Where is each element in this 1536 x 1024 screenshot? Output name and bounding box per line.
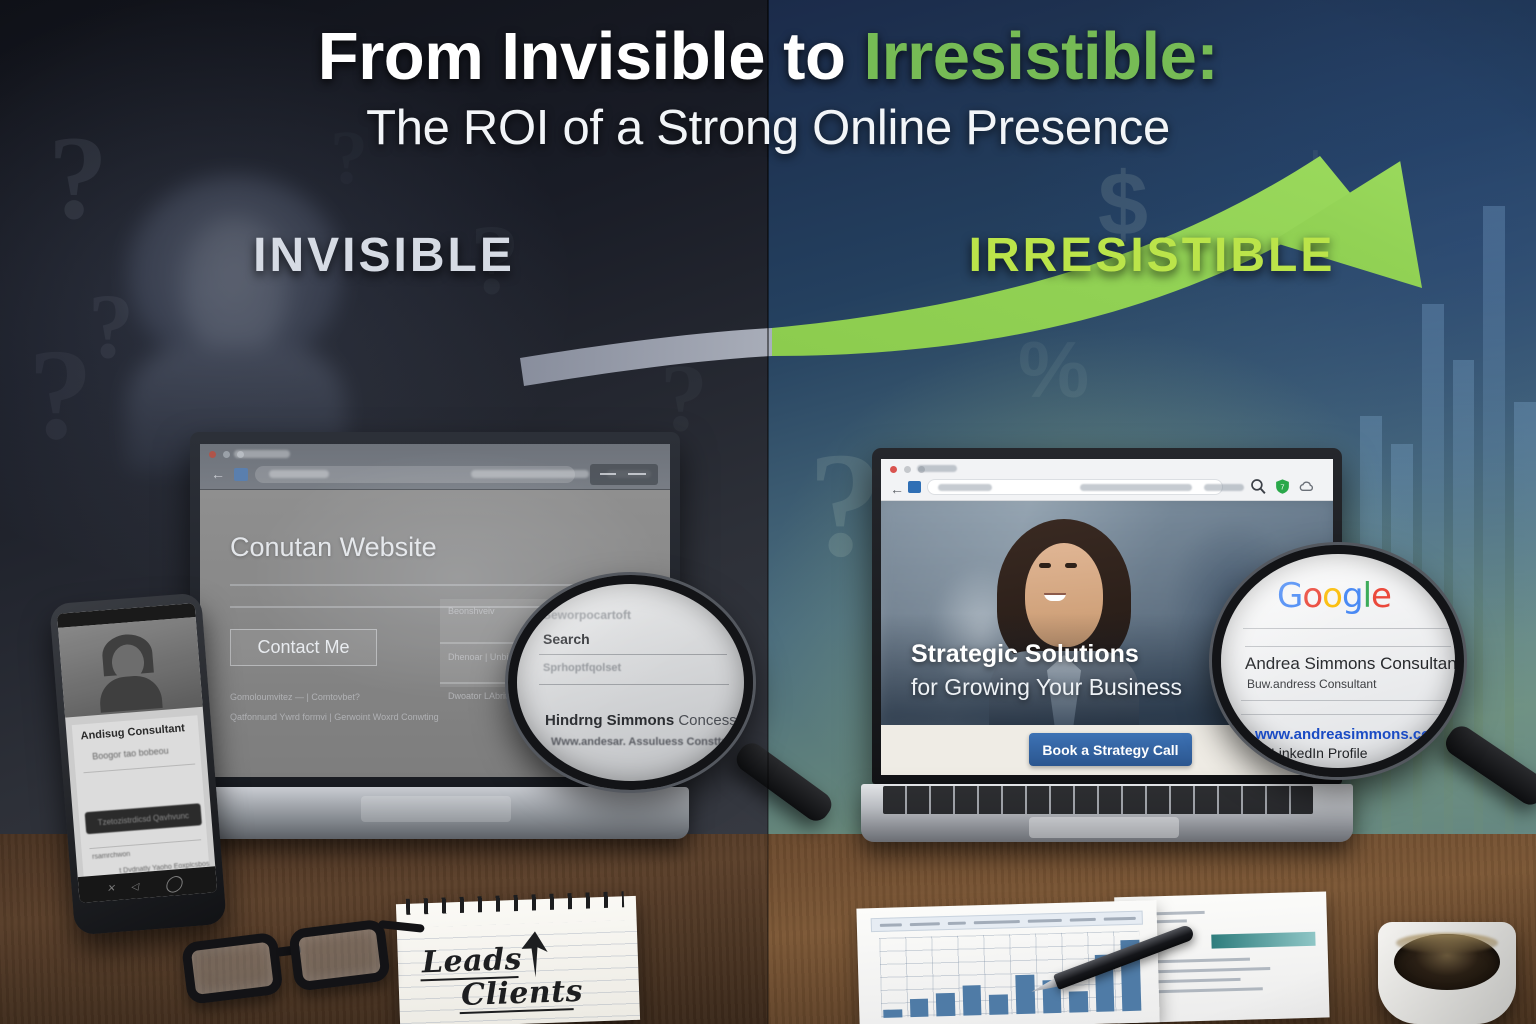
play-triangle-icon: [1255, 750, 1265, 762]
page-title: From Invisible to Irresistible:: [0, 22, 1536, 92]
cloud-icon[interactable]: [1298, 478, 1315, 495]
chart-papers: [856, 895, 1329, 1024]
search-label: Search: [543, 631, 590, 647]
search-result-url[interactable]: www.andreasimmons.com: [1255, 726, 1444, 743]
search-result-title[interactable]: Andrea Simmons Consultant: [1245, 654, 1461, 674]
keyboard-icon: [883, 786, 1313, 814]
trackpad: [1029, 817, 1179, 838]
poster-canvas: ? ? ? ? ? ? ? ? ? $ ↓ %: [0, 0, 1536, 1024]
smartphone: Andisug Consultant Boogor tao bobeou Tze…: [49, 593, 227, 936]
search-result-snippet: Buw.andress Consultant: [1247, 677, 1376, 691]
linkedin-profile-link[interactable]: LinkedIn Profile: [1271, 745, 1368, 761]
notepad: Leads Clients: [396, 896, 640, 1024]
browser-favicon-icon: [908, 481, 921, 493]
search-icon[interactable]: [1250, 478, 1267, 495]
home-circle-icon: ◯: [164, 873, 183, 894]
notepad-line-leads: Leads: [421, 942, 522, 980]
page-subtitle: The ROI of a Strong Online Presence: [0, 100, 1536, 156]
title-connector: to: [765, 19, 863, 94]
hero-subheading: for Growing Your Business: [911, 674, 1182, 701]
title-part-irresistible: Irresistible:: [863, 19, 1218, 94]
up-arrow-icon: [517, 931, 555, 978]
close-icon: ✕: [106, 883, 115, 895]
svg-text:7: 7: [1280, 482, 1284, 491]
lens-faint-field: Sprhoptfqolset: [543, 662, 621, 674]
right-browser-chrome: ← › 7: [881, 459, 1333, 501]
notepad-line-clients: Clients: [461, 974, 584, 1013]
title-block: From Invisible to Irresistible: The ROI …: [0, 22, 1536, 156]
badge-invisible: INVISIBLE: [0, 228, 768, 283]
lens-faint-top: Seworpocartoft: [543, 608, 631, 622]
coffee-cup-icon: [1378, 922, 1526, 1024]
hero-heading: Strategic Solutions: [911, 640, 1139, 669]
lens-result-sub: Www.andesar. Assuluess Consttuert.: [551, 736, 745, 748]
phone-avatar-icon: [95, 632, 163, 711]
google-logo-icon: Google: [1277, 576, 1391, 616]
phone-screen: Andisug Consultant Boogor tao bobeou Tze…: [57, 603, 217, 903]
back-arrow-icon: ◁: [130, 881, 139, 893]
shield-icon[interactable]: 7: [1274, 478, 1291, 495]
right-magnifier-lens: Google Andrea Simmons Consultant Buw.and…: [1212, 545, 1464, 777]
title-part-invisible: From Invisible: [318, 19, 765, 94]
right-url-bar[interactable]: [927, 479, 1223, 495]
left-magnifier-lens: Seworpocartoft Search Sprhoptfqolset Hin…: [508, 575, 753, 790]
book-strategy-call-button[interactable]: Book a Strategy Call: [1029, 733, 1192, 766]
badge-irresistible: IRRESISTIBLE: [768, 228, 1536, 283]
lens-result-title: Hindrng Simmons Concess: [545, 712, 737, 729]
